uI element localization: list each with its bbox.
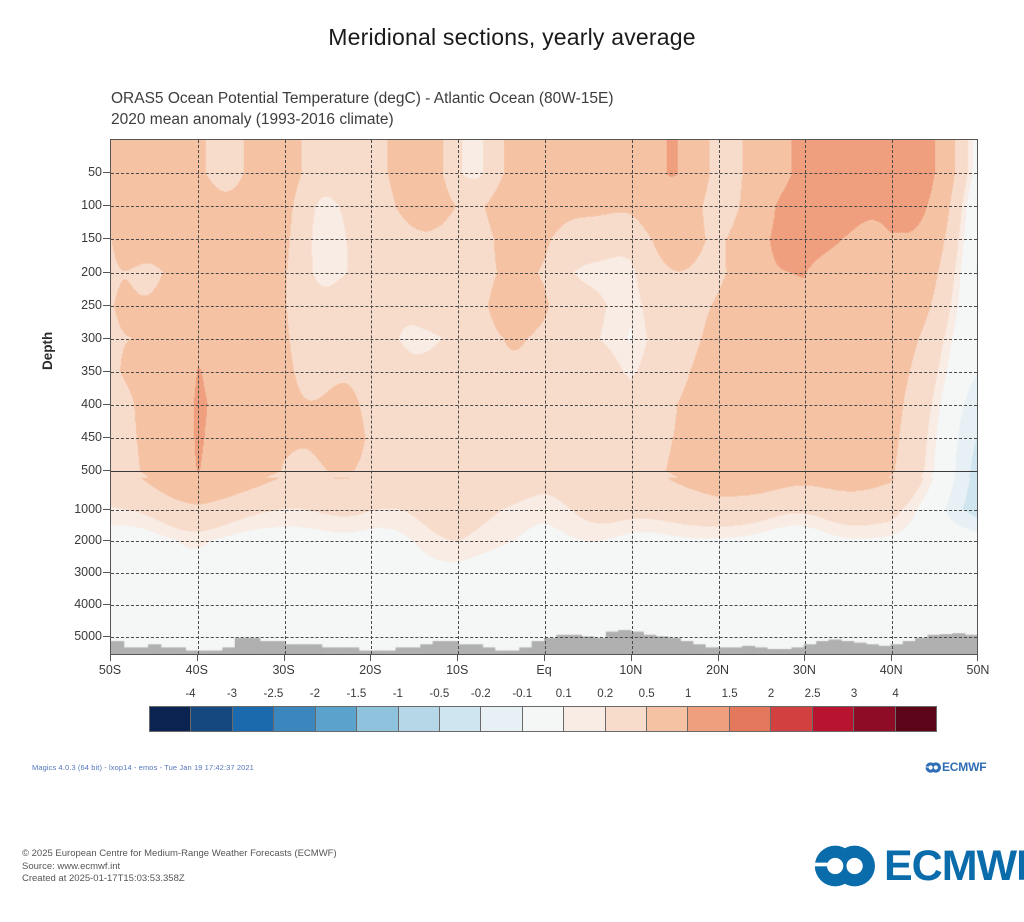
footer-source: Source: www.ecmwf.int: [22, 861, 337, 874]
y-tick-label: 200: [81, 265, 102, 279]
y-tick-mark: [103, 509, 110, 510]
colorbar-swatch: [316, 707, 357, 731]
ecmwf-wordmark-small: ECMWF: [942, 760, 986, 774]
colorbar-swatches: [149, 706, 937, 732]
y-axis-tick-labels: 5010015020025030035040045050010002000300…: [50, 139, 102, 655]
x-tick-label: Eq: [536, 663, 551, 677]
x-tick-label: 50S: [99, 663, 121, 677]
ecmwf-logo-small: ECMWF: [925, 760, 986, 774]
colorbar-tick-label: 0.5: [639, 688, 655, 700]
x-tick-mark: [891, 655, 892, 661]
colorbar-tick-label: -2: [310, 688, 320, 700]
colorbar-tick-label: -1: [393, 688, 403, 700]
y-tick-mark: [103, 205, 110, 206]
colorbar-tick-label: -0.5: [429, 688, 449, 700]
colorbar-swatch: [564, 707, 605, 731]
colorbar-swatch: [813, 707, 854, 731]
colorbar-tick-label: -1.5: [346, 688, 366, 700]
y-axis-tick-marks: [103, 139, 111, 655]
y-axis-title: Depth: [40, 332, 55, 370]
y-tick-label: 150: [81, 231, 102, 245]
y-tick-mark: [103, 338, 110, 339]
x-tick-mark: [718, 655, 719, 661]
colorbar-swatch: [523, 707, 564, 731]
x-tick-label: 20S: [359, 663, 381, 677]
y-tick-label: 5000: [74, 629, 102, 643]
colorbar-swatch: [854, 707, 895, 731]
ecmwf-logo-large: ECMWF: [812, 843, 1024, 889]
y-tick-label: 4000: [74, 597, 102, 611]
y-tick-mark: [103, 371, 110, 372]
colorbar-tick-label: 1.5: [722, 688, 738, 700]
colorbar-tick-label: 0.1: [556, 688, 572, 700]
y-tick-label: 1000: [74, 502, 102, 516]
y-tick-label: 400: [81, 397, 102, 411]
y-tick-mark: [103, 437, 110, 438]
colorbar-tick-label: -0.2: [471, 688, 491, 700]
x-tick-label: 40N: [880, 663, 903, 677]
y-tick-mark: [103, 540, 110, 541]
footer-copyright: © 2025 European Centre for Medium-Range …: [22, 848, 337, 861]
colorbar-tick-label: -2.5: [263, 688, 283, 700]
colorbar-tick-label: -0.1: [512, 688, 532, 700]
y-tick-label: 100: [81, 198, 102, 212]
page-title: Meridional sections, yearly average: [0, 24, 1024, 51]
plot-area: [110, 139, 978, 655]
y-tick-label: 350: [81, 364, 102, 378]
x-axis-tick-labels: 50S40S30S20S10SEq10N20N30N40N50N: [110, 663, 978, 681]
y-tick-mark: [103, 172, 110, 173]
x-tick-mark: [370, 655, 371, 661]
y-tick-mark: [103, 238, 110, 239]
ecmwf-wordmark-large: ECMWF: [884, 845, 1024, 888]
x-tick-mark: [977, 655, 978, 661]
colorbar-tick-label: 2: [768, 688, 774, 700]
y-tick-label: 3000: [74, 565, 102, 579]
x-tick-label: 10S: [446, 663, 468, 677]
x-tick-mark: [110, 655, 111, 661]
colorbar-tick-label: 1: [685, 688, 691, 700]
footer-credits: © 2025 European Centre for Medium-Range …: [22, 848, 337, 886]
colorbar-swatch: [606, 707, 647, 731]
x-tick-label: 30N: [793, 663, 816, 677]
x-tick-mark: [197, 655, 198, 661]
anomaly-field: [111, 140, 977, 654]
y-tick-mark: [103, 470, 110, 471]
colorbar-tick-label: 2.5: [805, 688, 821, 700]
y-tick-mark: [103, 404, 110, 405]
colorbar-tick-label: 4: [892, 688, 898, 700]
magics-credit-text: Magics 4.0.3 (64 bit) - lxop14 - emos - …: [32, 763, 254, 772]
colorbar-swatch: [191, 707, 232, 731]
y-tick-label: 450: [81, 430, 102, 444]
colorbar-swatch: [440, 707, 481, 731]
footer-created-at: Created at 2025-01-17T15:03:53.358Z: [22, 873, 337, 886]
colorbar-tick-label: 3: [851, 688, 857, 700]
colorbar-swatch: [274, 707, 315, 731]
y-tick-mark: [103, 604, 110, 605]
y-tick-mark: [103, 572, 110, 573]
colorbar-swatch: [399, 707, 440, 731]
colorbar-swatch: [481, 707, 522, 731]
y-tick-label: 2000: [74, 533, 102, 547]
colorbar-swatch: [233, 707, 274, 731]
depth-scale-break-line: [111, 471, 977, 472]
y-tick-label: 300: [81, 331, 102, 345]
colorbar-swatch: [730, 707, 771, 731]
chart-heading-line1: ORAS5 Ocean Potential Temperature (degC)…: [111, 88, 614, 109]
x-tick-label: 30S: [272, 663, 294, 677]
y-tick-mark: [103, 636, 110, 637]
y-tick-label: 500: [81, 463, 102, 477]
x-tick-label: 20N: [706, 663, 729, 677]
x-tick-mark: [804, 655, 805, 661]
x-tick-mark: [631, 655, 632, 661]
colorbar-legend: [149, 706, 937, 732]
chart-heading-line2: 2020 mean anomaly (1993-2016 climate): [111, 109, 614, 130]
x-tick-mark: [457, 655, 458, 661]
colorbar-tick-label: 0.2: [597, 688, 613, 700]
x-axis-tick-marks: [110, 655, 978, 663]
colorbar-swatch: [771, 707, 812, 731]
y-tick-mark: [103, 272, 110, 273]
colorbar-swatch: [688, 707, 729, 731]
colorbar-swatch: [357, 707, 398, 731]
colorbar-swatch: [647, 707, 688, 731]
x-tick-label: 50N: [967, 663, 990, 677]
x-tick-mark: [284, 655, 285, 661]
chart-heading: ORAS5 Ocean Potential Temperature (degC)…: [111, 88, 614, 130]
colorbar-swatch: [150, 707, 191, 731]
x-tick-label: 40S: [186, 663, 208, 677]
x-tick-mark: [544, 655, 545, 661]
ecmwf-mark-icon: [925, 761, 941, 774]
colorbar-swatch: [896, 707, 936, 731]
y-tick-mark: [103, 305, 110, 306]
ecmwf-mark-icon-large: [812, 843, 876, 889]
colorbar-tick-label: -3: [227, 688, 237, 700]
colorbar-tick-label: -4: [185, 688, 195, 700]
x-tick-label: 10N: [619, 663, 642, 677]
colorbar-tick-labels: -4-3-2.5-2-1.5-1-0.5-0.2-0.10.10.20.511.…: [149, 688, 937, 704]
y-tick-label: 250: [81, 298, 102, 312]
y-tick-label: 50: [88, 165, 102, 179]
